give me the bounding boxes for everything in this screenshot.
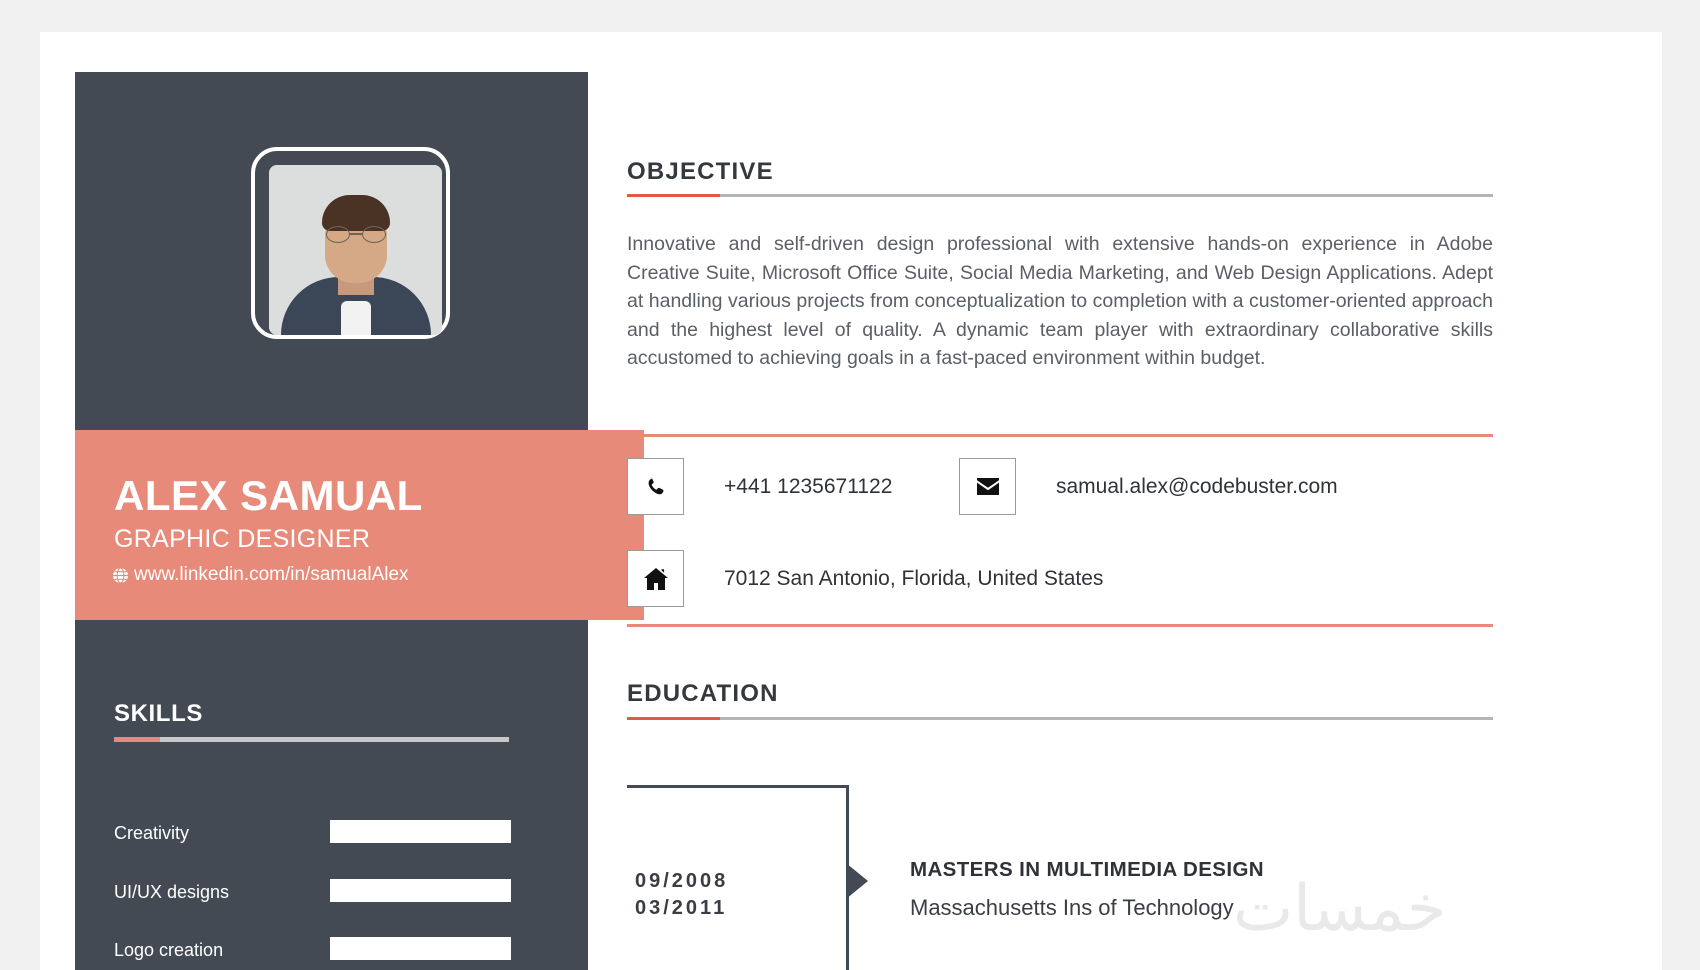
left-column: SKILLS Creativity UI/UX designs Logo cre… [75, 72, 588, 970]
contact-phone[interactable]: +441 1235671122 [627, 458, 892, 515]
education-underline [627, 717, 1493, 720]
skill-label: UI/UX designs [114, 882, 229, 903]
photo-frame [251, 147, 450, 339]
contact-email[interactable]: samual.alex@codebuster.com [959, 458, 1338, 515]
name-banner: ALEX SAMUAL GRAPHIC DESIGNER www.linkedi… [75, 430, 644, 620]
skill-track [330, 820, 511, 843]
home-icon [627, 550, 684, 607]
skill-row: UI/UX designs [114, 879, 550, 905]
education-school: Massachusetts Ins of Technology [910, 895, 1234, 921]
resume-page: SKILLS Creativity UI/UX designs Logo cre… [40, 32, 1662, 970]
glasses-icon [326, 226, 386, 243]
profile-photo [269, 165, 442, 335]
phone-value: +441 1235671122 [724, 475, 892, 499]
objective-heading: OBJECTIVE [627, 158, 774, 186]
skill-label: Logo creation [114, 940, 223, 961]
address-value: 7012 San Antonio, Florida, United States [724, 567, 1103, 591]
right-column: OBJECTIVE Innovative and self-driven des… [588, 72, 1627, 970]
left-panel-top [75, 72, 588, 430]
skills-underline [114, 737, 509, 742]
contact-divider-top [627, 434, 1493, 437]
watermark: خمسات [1233, 872, 1446, 946]
skill-track [330, 879, 511, 902]
education-date-start: 09/2008 [635, 870, 728, 893]
email-value: samual.alex@codebuster.com [1056, 475, 1338, 499]
skill-row: Creativity [114, 820, 550, 846]
linkedin-url: www.linkedin.com/in/samualAlex [134, 564, 409, 586]
candidate-job-title: GRAPHIC DESIGNER [114, 525, 370, 554]
education-date-end: 03/2011 [635, 897, 727, 920]
skill-label: Creativity [114, 823, 189, 844]
education-heading: EDUCATION [627, 680, 779, 708]
globe-icon [112, 567, 129, 584]
left-panel-bottom: SKILLS Creativity UI/UX designs Logo cre… [75, 620, 588, 970]
envelope-icon [959, 458, 1016, 515]
contact-address[interactable]: 7012 San Antonio, Florida, United States [627, 550, 1103, 607]
photo-collar [341, 301, 371, 335]
linkedin-row[interactable]: www.linkedin.com/in/samualAlex [112, 564, 409, 586]
education-degree: MASTERS IN MULTIMEDIA DESIGN [910, 858, 1264, 882]
education-arrow-icon [846, 863, 868, 899]
skills-heading: SKILLS [114, 700, 203, 728]
skill-row: Logo creation [114, 937, 550, 963]
skill-track [330, 937, 511, 960]
candidate-name: ALEX SAMUAL [114, 472, 423, 520]
objective-body: Innovative and self-driven design profes… [627, 230, 1493, 373]
contact-divider-bottom [627, 624, 1493, 627]
phone-icon [627, 458, 684, 515]
objective-underline [627, 194, 1493, 197]
